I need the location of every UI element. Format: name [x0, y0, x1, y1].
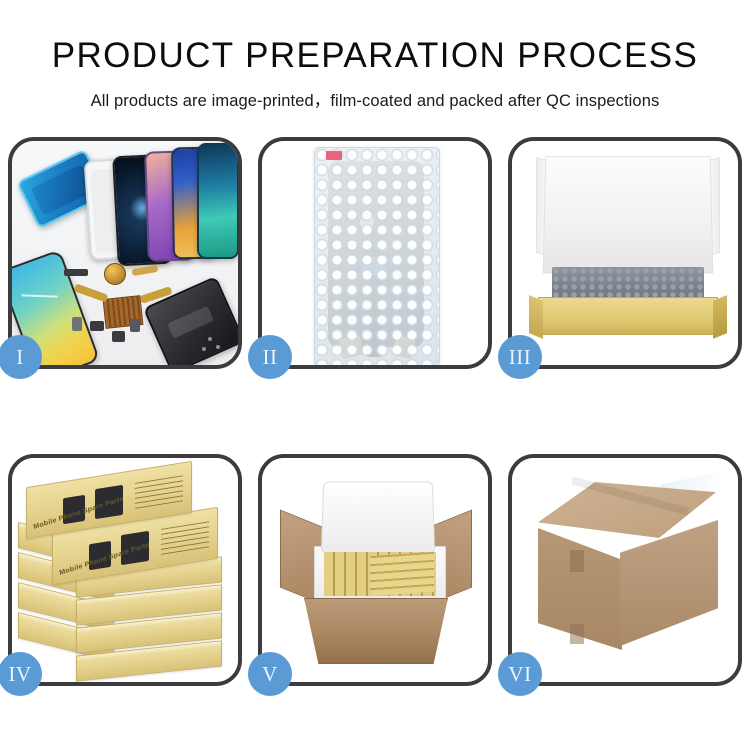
product-preparation-process-page: PRODUCT PREPARATION PROCESS All products… [0, 0, 750, 750]
bubble-wrap-icon [314, 147, 440, 365]
kraft-box-front [538, 297, 718, 335]
process-step-panel-6: VI [508, 454, 742, 686]
flex-cable-icon-1 [74, 283, 109, 302]
screw-icon-1 [208, 337, 212, 341]
process-step-panel-1: I [8, 137, 242, 369]
small-chip-icon-5 [130, 319, 140, 332]
small-chip-icon-2 [72, 317, 82, 331]
page-title: PRODUCT PREPARATION PROCESS [0, 0, 750, 73]
small-chip-icon-1 [64, 269, 88, 276]
step-1-image [12, 141, 238, 365]
foam-lid-icon [321, 481, 435, 553]
step-badge-3: III [498, 335, 542, 379]
screw-icon-3 [202, 347, 206, 351]
grey-foam-icon [552, 267, 704, 301]
step-3-image [512, 141, 738, 365]
page-header: PRODUCT PREPARATION PROCESS All products… [0, 0, 750, 111]
carton-right-face [620, 520, 718, 646]
page-subtitle: All products are image-printed，film-coat… [0, 73, 750, 111]
process-step-panel-3: III [508, 137, 742, 369]
step-4-image: Mobile Phone Spare Parts Mobile Phone Sp… [12, 458, 238, 682]
box-lid-icon [543, 156, 714, 273]
step-badge-5: V [248, 652, 292, 696]
small-chip-icon-4 [112, 331, 125, 342]
step-badge-2: II [248, 335, 292, 379]
carton-body [304, 598, 448, 664]
packed-yellow-boxes-icon-2 [370, 552, 434, 596]
flex-cable-icon-3 [132, 265, 159, 276]
screw-icon-2 [216, 345, 220, 349]
process-step-panel-2: II [258, 137, 492, 369]
step-6-image [512, 458, 738, 682]
step-2-image [262, 141, 488, 365]
step-badge-4: IV [0, 652, 42, 696]
step-5-image [262, 458, 488, 682]
step-badge-6: VI [498, 652, 542, 696]
carton-tape-bottom [570, 624, 584, 644]
retail-box-stack: Mobile Phone Spare Parts Mobile Phone Sp… [12, 458, 238, 682]
gold-component-icon [104, 263, 126, 285]
process-steps-grid: I II III [8, 137, 742, 682]
pink-label-icon [326, 151, 342, 160]
process-step-panel-4: Mobile Phone Spare Parts Mobile Phone Sp… [8, 454, 242, 686]
carton-tape-top [570, 550, 584, 572]
step-badge-1: I [0, 335, 42, 379]
small-chip-icon-3 [90, 321, 104, 331]
teal-phone-icon [197, 143, 238, 259]
process-step-panel-5: V [258, 454, 492, 686]
